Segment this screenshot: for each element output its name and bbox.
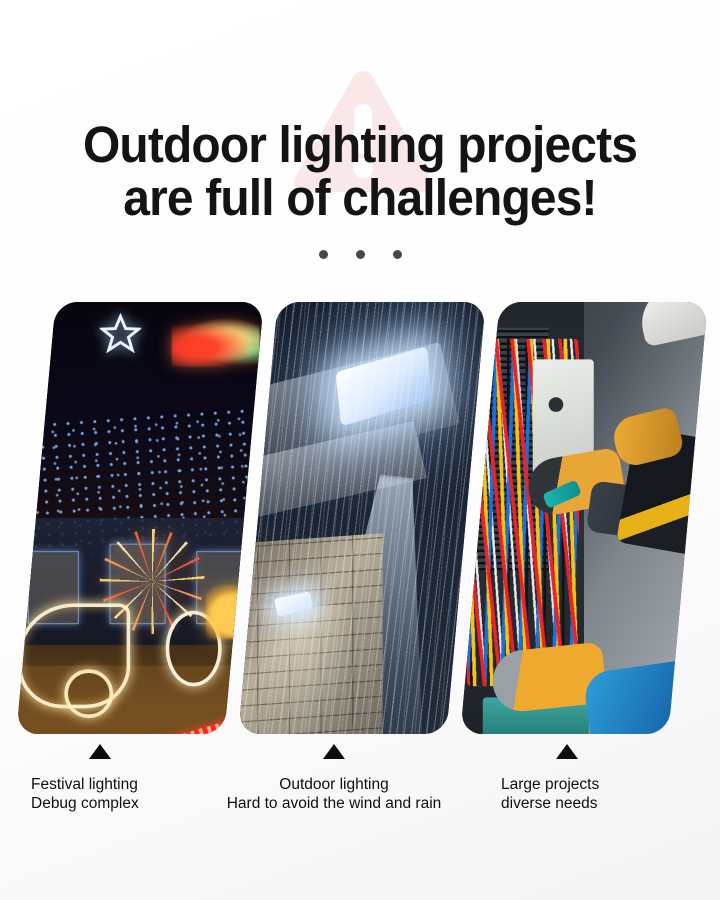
page-title: Outdoor lighting projects are full of ch…: [0, 118, 720, 224]
outdoor-lighting-photo: [238, 302, 485, 734]
festival-lighting-photo: [16, 302, 263, 734]
sleigh-light-figure: [171, 318, 259, 367]
headline-line-2: are full of challenges!: [22, 171, 699, 224]
caption-2-line-2: Hard to avoid the wind and rain: [208, 794, 460, 813]
dot-separator: [0, 250, 720, 259]
panel-festival-lighting: [16, 302, 263, 734]
caret-up-icon-2: [323, 744, 345, 759]
caption-festival-lighting: Festival lighting Debug complex: [31, 775, 139, 813]
separator-dot-2: [356, 250, 365, 259]
rain-streaks-back: [238, 302, 485, 734]
caption-1-line-1: Festival lighting: [31, 775, 139, 794]
caption-3-line-1: Large projects: [501, 775, 599, 794]
caption-outdoor-lighting: Outdoor lighting Hard to avoid the wind …: [208, 775, 460, 813]
headline-line-1: Outdoor lighting projects: [22, 118, 699, 171]
caption-large-projects: Large projects diverse needs: [501, 775, 599, 813]
star-light-icon: [99, 312, 140, 353]
control-knob: [548, 397, 563, 412]
panel-large-projects: [460, 302, 707, 734]
caret-up-icon-1: [89, 744, 111, 759]
separator-dot-3: [393, 250, 402, 259]
caption-2-line-1: Outdoor lighting: [208, 775, 460, 794]
large-projects-photo: [460, 302, 707, 734]
header-section: Outdoor lighting projects are full of ch…: [0, 0, 720, 290]
caption-1-line-2: Debug complex: [31, 794, 139, 813]
caption-3-line-2: diverse needs: [501, 794, 599, 813]
separator-dot-1: [319, 250, 328, 259]
caret-up-icon-3: [556, 744, 578, 759]
image-panel-group: [0, 296, 720, 744]
panel-markers: [0, 744, 720, 766]
panel-outdoor-lighting: [238, 302, 485, 734]
bicycle-wheel-light: [64, 669, 113, 718]
